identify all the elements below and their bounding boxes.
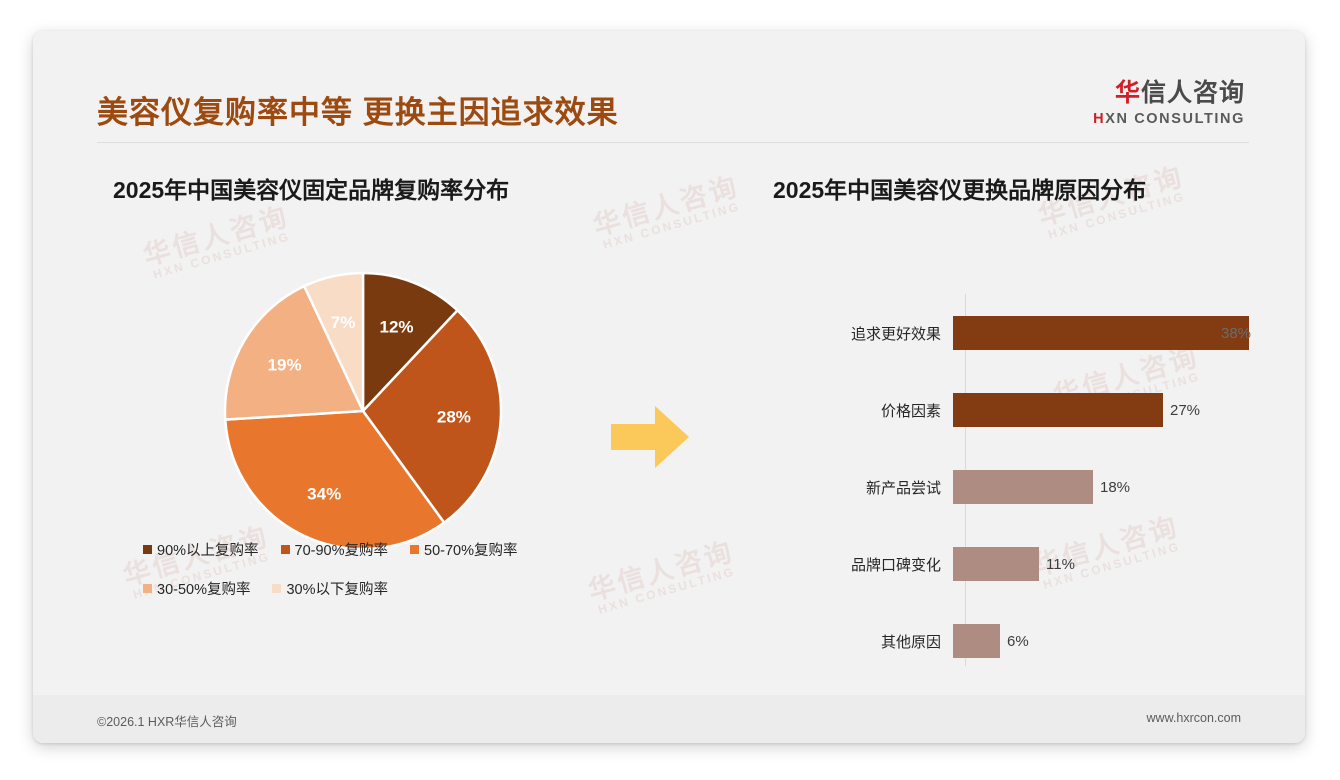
bar-row: 品牌口碑变化 11%	[773, 547, 1273, 581]
website-text[interactable]: www.hxrcon.com	[1147, 711, 1241, 725]
bar-track: 11%	[953, 547, 1273, 581]
watermark-en: HXN CONSULTING	[598, 199, 746, 254]
legend-item[interactable]: 90%以上复购率	[143, 539, 259, 560]
bar-category-label: 价格因素	[773, 400, 953, 421]
pie-slice-value: 19%	[268, 356, 302, 375]
watermark: 华信人咨询 HXN CONSULTING	[590, 171, 746, 254]
legend-label: 30%以下复购率	[286, 578, 388, 599]
pie-slice-value: 34%	[307, 484, 341, 503]
logo-en-text: HXN CONSULTING	[1093, 112, 1245, 127]
watermark-en: HXN CONSULTING	[593, 564, 741, 619]
bar-fill[interactable]	[953, 624, 1000, 658]
pie-slice-value: 28%	[437, 408, 471, 427]
bar-category-label: 新产品尝试	[773, 477, 953, 498]
bar-fill[interactable]	[953, 547, 1039, 581]
title-divider	[97, 142, 1249, 143]
bar-fill[interactable]	[953, 393, 1163, 427]
legend-row: 90%以上复购率 70-90%复购率 50-70%复购率	[143, 539, 613, 560]
legend-label: 70-90%复购率	[295, 539, 388, 560]
bar-value-label: 27%	[1170, 402, 1200, 419]
logo-rest-chars: 信人咨询	[1141, 79, 1245, 107]
bar-row: 价格因素 27%	[773, 393, 1273, 427]
legend-item[interactable]: 30%以下复购率	[272, 578, 388, 599]
pie-chart-title: 2025年中国美容仪固定品牌复购率分布	[113, 171, 509, 205]
slide-card: 华信人咨询 HXN CONSULTING 华信人咨询 HXN CONSULTIN…	[33, 31, 1305, 743]
slide-header: 美容仪复购率中等 更换主因追求效果 华信人咨询 HXN CONSULTING	[33, 31, 1305, 127]
bar-row: 追求更好效果 38%	[773, 316, 1273, 350]
legend-swatch-icon	[410, 545, 419, 554]
logo-en-accent: H	[1093, 111, 1105, 127]
page-title: 美容仪复购率中等 更换主因追求效果	[97, 87, 619, 132]
legend-row: 30-50%复购率 30%以下复购率	[143, 578, 613, 599]
bar-fill[interactable]	[953, 470, 1093, 504]
bar-track: 18%	[953, 470, 1273, 504]
bar-row: 新产品尝试 18%	[773, 470, 1273, 504]
pie-slice-value: 7%	[331, 313, 356, 332]
logo-en-rest: XN CONSULTING	[1105, 111, 1245, 127]
legend-label: 50-70%复购率	[424, 539, 517, 560]
legend-item[interactable]: 50-70%复购率	[410, 539, 517, 560]
pie-chart-svg: 12%28%34%19%7%	[223, 271, 503, 551]
arrow-right-icon	[611, 406, 689, 468]
watermark-cn: 华信人咨询	[140, 201, 293, 272]
pie-chart: 12%28%34%19%7%	[223, 271, 503, 551]
watermark-cn: 华信人咨询	[590, 171, 743, 242]
bar-chart-title: 2025年中国美容仪更换品牌原因分布	[773, 171, 1146, 205]
bar-track: 27%	[953, 393, 1273, 427]
bar-category-label: 品牌口碑变化	[773, 554, 953, 575]
bar-value-label: 38%	[1221, 325, 1251, 342]
bar-fill[interactable]	[953, 316, 1249, 350]
flow-arrow-icon	[611, 406, 689, 473]
legend-item[interactable]: 30-50%复购率	[143, 578, 250, 599]
bar-chart: 追求更好效果 38% 价格因素 27% 新产品尝试 18% 品牌口碑变化	[773, 286, 1273, 676]
legend-swatch-icon	[281, 545, 290, 554]
logo-cn-text: 华信人咨询	[1093, 81, 1245, 106]
brand-logo: 华信人咨询 HXN CONSULTING	[1093, 81, 1245, 127]
bar-value-label: 18%	[1100, 479, 1130, 496]
bar-row: 其他原因 6%	[773, 624, 1273, 658]
pie-slice-value: 12%	[379, 317, 413, 336]
bar-category-label: 其他原因	[773, 631, 953, 652]
bar-value-label: 6%	[1007, 633, 1029, 650]
pie-legend: 90%以上复购率 70-90%复购率 50-70%复购率 30-50%复购率 3…	[143, 539, 613, 617]
bar-category-label: 追求更好效果	[773, 323, 953, 344]
legend-label: 90%以上复购率	[157, 539, 259, 560]
legend-item[interactable]: 70-90%复购率	[281, 539, 388, 560]
logo-accent-char: 华	[1115, 79, 1141, 107]
legend-swatch-icon	[272, 584, 281, 593]
bar-value-label: 11%	[1046, 556, 1075, 573]
legend-swatch-icon	[143, 545, 152, 554]
copyright-text: ©2026.1 HXR华信人咨询	[97, 711, 237, 730]
bar-track: 6%	[953, 624, 1273, 658]
legend-swatch-icon	[143, 584, 152, 593]
bar-track: 38%	[953, 316, 1273, 350]
legend-label: 30-50%复购率	[157, 578, 250, 599]
slide-footer: ©2026.1 HXR华信人咨询 www.hxrcon.com	[33, 695, 1305, 743]
